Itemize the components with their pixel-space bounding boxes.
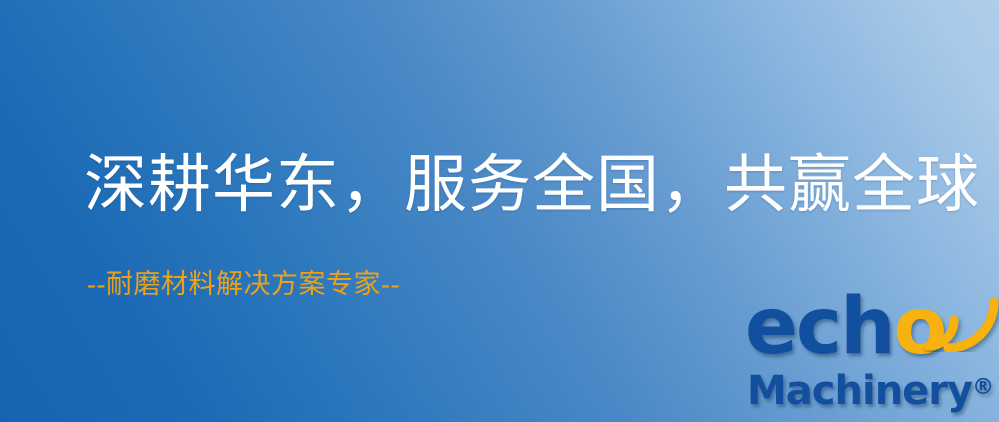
registered-trademark-icon: ® (972, 375, 994, 400)
company-logo[interactable]: echo Machinery® (745, 288, 999, 422)
logo-text-ech: ech (745, 282, 894, 372)
banner-headline: 深耕华东，服务全国，共赢全球 (84, 152, 980, 218)
promotional-banner: 深耕华东，服务全国，共赢全球 --耐磨材料解决方案专家-- echo Machi… (0, 0, 999, 422)
banner-subtitle: --耐磨材料解决方案专家-- (87, 268, 400, 300)
logo-subbrand: Machinery® (747, 366, 994, 413)
logo-subbrand-text: Machinery (747, 368, 972, 414)
logo-wordmark: echo (745, 288, 945, 366)
logo-text-o: o (894, 282, 946, 372)
